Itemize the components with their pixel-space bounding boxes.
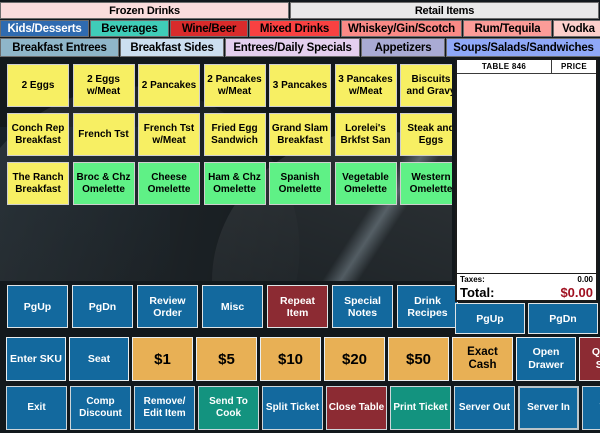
tender-button-dollar50[interactable]: $50 xyxy=(388,337,449,381)
tab-label: Mixed Drinks xyxy=(260,23,329,35)
menu-item-button[interactable]: Grand Slam Breakfast xyxy=(269,113,331,156)
order-pgdn-button[interactable]: PgDn xyxy=(528,303,598,334)
menu-item-button[interactable]: Spanish Omelette xyxy=(269,162,331,205)
total-value: $0.00 xyxy=(560,285,593,300)
order-header: TABLE 846 PRICE xyxy=(457,60,596,74)
ticket-action-label: Server In xyxy=(527,402,570,414)
tender-button-label: Open Drawer xyxy=(517,346,575,372)
function-button-repeat-item[interactable]: Repeat Item xyxy=(267,285,328,328)
function-button-row: PgUpPgDnReview OrderMiscRepeat ItemSpeci… xyxy=(7,285,462,328)
tab-breakfast-sides[interactable]: Breakfast Sides xyxy=(120,38,224,57)
order-pager: PgUp PgDn xyxy=(455,303,600,334)
menu-item-button[interactable]: 2 Pancakes xyxy=(138,64,200,107)
tab-label: Soups/Salads/Sandwiches xyxy=(453,42,593,54)
menu-item-label: 2 Eggs xyxy=(22,80,55,92)
ticket-action-label: Server Out xyxy=(459,402,510,414)
menu-item-button[interactable]: Steak and Eggs xyxy=(400,113,452,156)
tender-button-dollar5[interactable]: $5 xyxy=(196,337,257,381)
ticket-action-remove-edit-item[interactable]: Remove/ Edit Item xyxy=(134,386,195,430)
tab-breakfast-entrees[interactable]: Breakfast Entrees xyxy=(0,38,119,57)
tender-button-dollar20[interactable]: $20 xyxy=(324,337,385,381)
ticket-action-label: Remove/ Edit Item xyxy=(135,396,194,420)
taxes-value: 0.00 xyxy=(577,275,593,284)
menu-item-button[interactable]: Cheese Omelette xyxy=(138,162,200,205)
total-label: Total: xyxy=(460,285,494,300)
tender-button-row: Enter SKUSeat$1$5$10$20$50Exact CashOpen… xyxy=(6,337,600,381)
menu-item-label: French Tst xyxy=(78,129,128,141)
order-pgup-button[interactable]: PgUp xyxy=(455,303,525,334)
ticket-action-server-out[interactable]: Server Out xyxy=(454,386,515,430)
tab-label: Kids/Desserts xyxy=(7,23,81,35)
tender-button-label: $50 xyxy=(406,353,431,366)
taxes-row: Taxes: 0.00 xyxy=(460,274,593,285)
ticket-action-close-table[interactable]: Close Table xyxy=(326,386,387,430)
ticket-action-print-ticket[interactable]: Print Ticket xyxy=(390,386,451,430)
menu-item-button[interactable]: Conch Rep Breakfast xyxy=(7,113,69,156)
function-button-label: Special Notes xyxy=(333,295,392,319)
menu-item-label: Spanish Omelette xyxy=(271,172,329,195)
ticket-action-label: Exit xyxy=(27,402,45,414)
tab-label: Beverages xyxy=(101,23,157,35)
menu-item-label: 3 Pancakes w/Meat xyxy=(337,74,395,97)
menu-item-button[interactable]: Fried Egg Sandwich xyxy=(204,113,266,156)
function-button-label: Review Order xyxy=(138,295,197,319)
tab-label: Appetizers xyxy=(375,42,432,54)
tender-button-label: Seat xyxy=(88,353,110,366)
menu-item-label: Conch Rep Breakfast xyxy=(9,123,67,146)
tab-whiskey-gin-scotch[interactable]: Whiskey/Gin/Scotch xyxy=(341,20,462,37)
ticket-action-button-row: ExitComp DiscountRemove/ Edit ItemSend T… xyxy=(6,386,600,430)
menu-item-button[interactable]: Lorelei's Brkfst San xyxy=(335,113,397,156)
order-price-label: PRICE xyxy=(552,60,596,73)
tab-label: Wine/Beer xyxy=(182,23,236,35)
menu-item-label: Western Omelette xyxy=(402,172,452,195)
tab-retail-items[interactable]: Retail Items xyxy=(290,2,599,19)
tender-button-label: Exact Cash xyxy=(453,346,512,372)
tab-kids-desserts[interactable]: Kids/Desserts xyxy=(0,20,89,37)
ticket-action-label: Split Ticket xyxy=(266,402,319,414)
function-button-special-notes[interactable]: Special Notes xyxy=(332,285,393,328)
function-button-label: PgDn xyxy=(89,301,116,313)
tab-mixed-drinks[interactable]: Mixed Drinks xyxy=(249,20,340,37)
tender-button-dollar10[interactable]: $10 xyxy=(260,337,321,381)
menu-item-button[interactable]: 2 Eggs xyxy=(7,64,69,107)
menu-item-label: Broc & Chz Omelette xyxy=(75,172,133,195)
tender-button-label: $1 xyxy=(154,353,171,366)
tab-label: Breakfast Entrees xyxy=(12,42,106,54)
function-button-label: Misc xyxy=(221,301,244,313)
tender-button-dollar1[interactable]: $1 xyxy=(132,337,193,381)
menu-item-label: French Tst w/Meat xyxy=(140,123,198,146)
ticket-action-label: Print Ticket xyxy=(393,402,447,414)
tab-frozen-drinks[interactable]: Frozen Drinks xyxy=(0,2,289,19)
order-line-list[interactable] xyxy=(457,74,596,273)
tender-button-seat[interactable]: Seat xyxy=(69,337,129,381)
menu-item-button[interactable]: Western Omelette xyxy=(400,162,452,205)
function-button-pgdn[interactable]: PgDn xyxy=(72,285,133,328)
total-row: Total: $0.00 xyxy=(460,285,593,299)
menu-item-button[interactable]: The Ranch Breakfast xyxy=(7,162,69,205)
menu-item-label: Ham & Chz Omelette xyxy=(206,172,264,195)
tab-label: Rum/Tequila xyxy=(475,23,541,35)
menu-item-label: 2 Pancakes xyxy=(142,80,197,92)
tender-button-label: $5 xyxy=(218,353,235,366)
tender-button-label: Enter SKU xyxy=(10,353,62,366)
tab-label: Whiskey/Gin/Scotch xyxy=(348,23,455,35)
menu-item-label: Biscuits and Gravy xyxy=(402,74,452,97)
function-button-misc[interactable]: Misc xyxy=(202,285,263,328)
ticket-action-label: Comp Discount xyxy=(71,396,130,420)
menu-item-label: Fried Egg Sandwich xyxy=(206,123,264,146)
tab-beverages[interactable]: Beverages xyxy=(90,20,169,37)
order-table-label: TABLE 846 xyxy=(457,60,552,73)
menu-item-label: 2 Pancakes w/Meat xyxy=(206,74,264,97)
menu-item-label: 3 Pancakes xyxy=(273,80,328,92)
tender-button-label: $20 xyxy=(342,353,367,366)
order-totals: Taxes: 0.00 Total: $0.00 xyxy=(455,274,598,302)
tab-label: Breakfast Sides xyxy=(130,42,213,54)
menu-item-label: Vegetable Omelette xyxy=(337,172,395,195)
ticket-action-label: Send To Cook xyxy=(199,396,258,420)
menu-item-button[interactable]: Vegetable Omelette xyxy=(335,162,397,205)
menu-item-label: Steak and Eggs xyxy=(402,123,452,146)
pos-application: Frozen DrinksRetail Items Kids/DessertsB… xyxy=(0,0,600,433)
ticket-action-comp-discount[interactable]: Comp Discount xyxy=(70,386,131,430)
function-button-pgup[interactable]: PgUp xyxy=(7,285,68,328)
category-tab-row-food: Breakfast EntreesBreakfast SidesEntrees/… xyxy=(0,38,600,57)
tender-button-quick-sale[interactable]: Quick Sale xyxy=(579,337,600,381)
tender-button-open-drawer[interactable]: Open Drawer xyxy=(516,337,576,381)
menu-item-button[interactable]: 3 Pancakes xyxy=(269,64,331,107)
tab-rum-tequila[interactable]: Rum/Tequila xyxy=(463,20,552,37)
tender-button-exact-cash[interactable]: Exact Cash xyxy=(452,337,513,381)
tab-appetizers[interactable]: Appetizers xyxy=(361,38,445,57)
menu-item-stage: 2 Eggs2 Eggs w/Meat2 Pancakes2 Pancakes … xyxy=(0,57,452,281)
function-button-drink-recipes[interactable]: Drink Recipes xyxy=(397,285,458,328)
ticket-action-table[interactable]: Table xyxy=(582,386,600,430)
menu-item-button[interactable]: Broc & Chz Omelette xyxy=(73,162,135,205)
menu-item-grid: 2 Eggs2 Eggs w/Meat2 Pancakes2 Pancakes … xyxy=(0,57,452,207)
menu-item-label: Grand Slam Breakfast xyxy=(271,123,329,146)
menu-item-button[interactable]: French Tst xyxy=(73,113,135,156)
tender-button-enter-sku[interactable]: Enter SKU xyxy=(6,337,66,381)
category-tab-row-drinks: Kids/DessertsBeveragesWine/BeerMixed Dri… xyxy=(0,20,600,37)
order-receipt-panel: TABLE 846 PRICE xyxy=(455,58,598,274)
tab-label: Entrees/Daily Specials xyxy=(233,42,351,54)
function-button-label: PgUp xyxy=(24,301,51,313)
tab-label: Vodka xyxy=(562,23,595,35)
ticket-action-label: Close Table xyxy=(329,402,384,414)
menu-item-button[interactable]: French Tst w/Meat xyxy=(138,113,200,156)
taxes-label: Taxes: xyxy=(460,275,485,284)
menu-item-label: 2 Eggs w/Meat xyxy=(75,74,133,97)
tender-button-label: $10 xyxy=(278,353,303,366)
function-button-label: Drink Recipes xyxy=(398,295,457,319)
menu-item-label: Cheese Omelette xyxy=(140,172,198,195)
menu-item-button[interactable]: Ham & Chz Omelette xyxy=(204,162,266,205)
ticket-action-split-ticket[interactable]: Split Ticket xyxy=(262,386,323,430)
tender-button-label: Quick Sale xyxy=(580,346,600,372)
ticket-action-server-in[interactable]: Server In xyxy=(518,386,579,430)
category-tab-row-primary: Frozen DrinksRetail Items xyxy=(0,2,600,19)
function-button-review-order[interactable]: Review Order xyxy=(137,285,198,328)
menu-item-button[interactable]: Biscuits and Gravy xyxy=(400,64,452,107)
tab-soups-salads-sandwiches[interactable]: Soups/Salads/Sandwiches xyxy=(446,38,600,57)
menu-item-label: Lorelei's Brkfst San xyxy=(337,123,395,146)
tab-label: Frozen Drinks xyxy=(109,5,180,17)
function-button-label: Repeat Item xyxy=(268,295,327,319)
tab-label: Retail Items xyxy=(415,5,474,17)
tab-entrees-daily-specials[interactable]: Entrees/Daily Specials xyxy=(225,38,360,57)
menu-item-button[interactable]: 2 Pancakes w/Meat xyxy=(204,64,266,107)
ticket-action-exit[interactable]: Exit xyxy=(6,386,67,430)
ticket-action-send-to-cook[interactable]: Send To Cook xyxy=(198,386,259,430)
tab-wine-beer[interactable]: Wine/Beer xyxy=(170,20,248,37)
menu-item-label: The Ranch Breakfast xyxy=(9,172,67,195)
menu-item-button[interactable]: 3 Pancakes w/Meat xyxy=(335,64,397,107)
tab-vodka[interactable]: Vodka xyxy=(553,20,600,37)
menu-item-button[interactable]: 2 Eggs w/Meat xyxy=(73,64,135,107)
